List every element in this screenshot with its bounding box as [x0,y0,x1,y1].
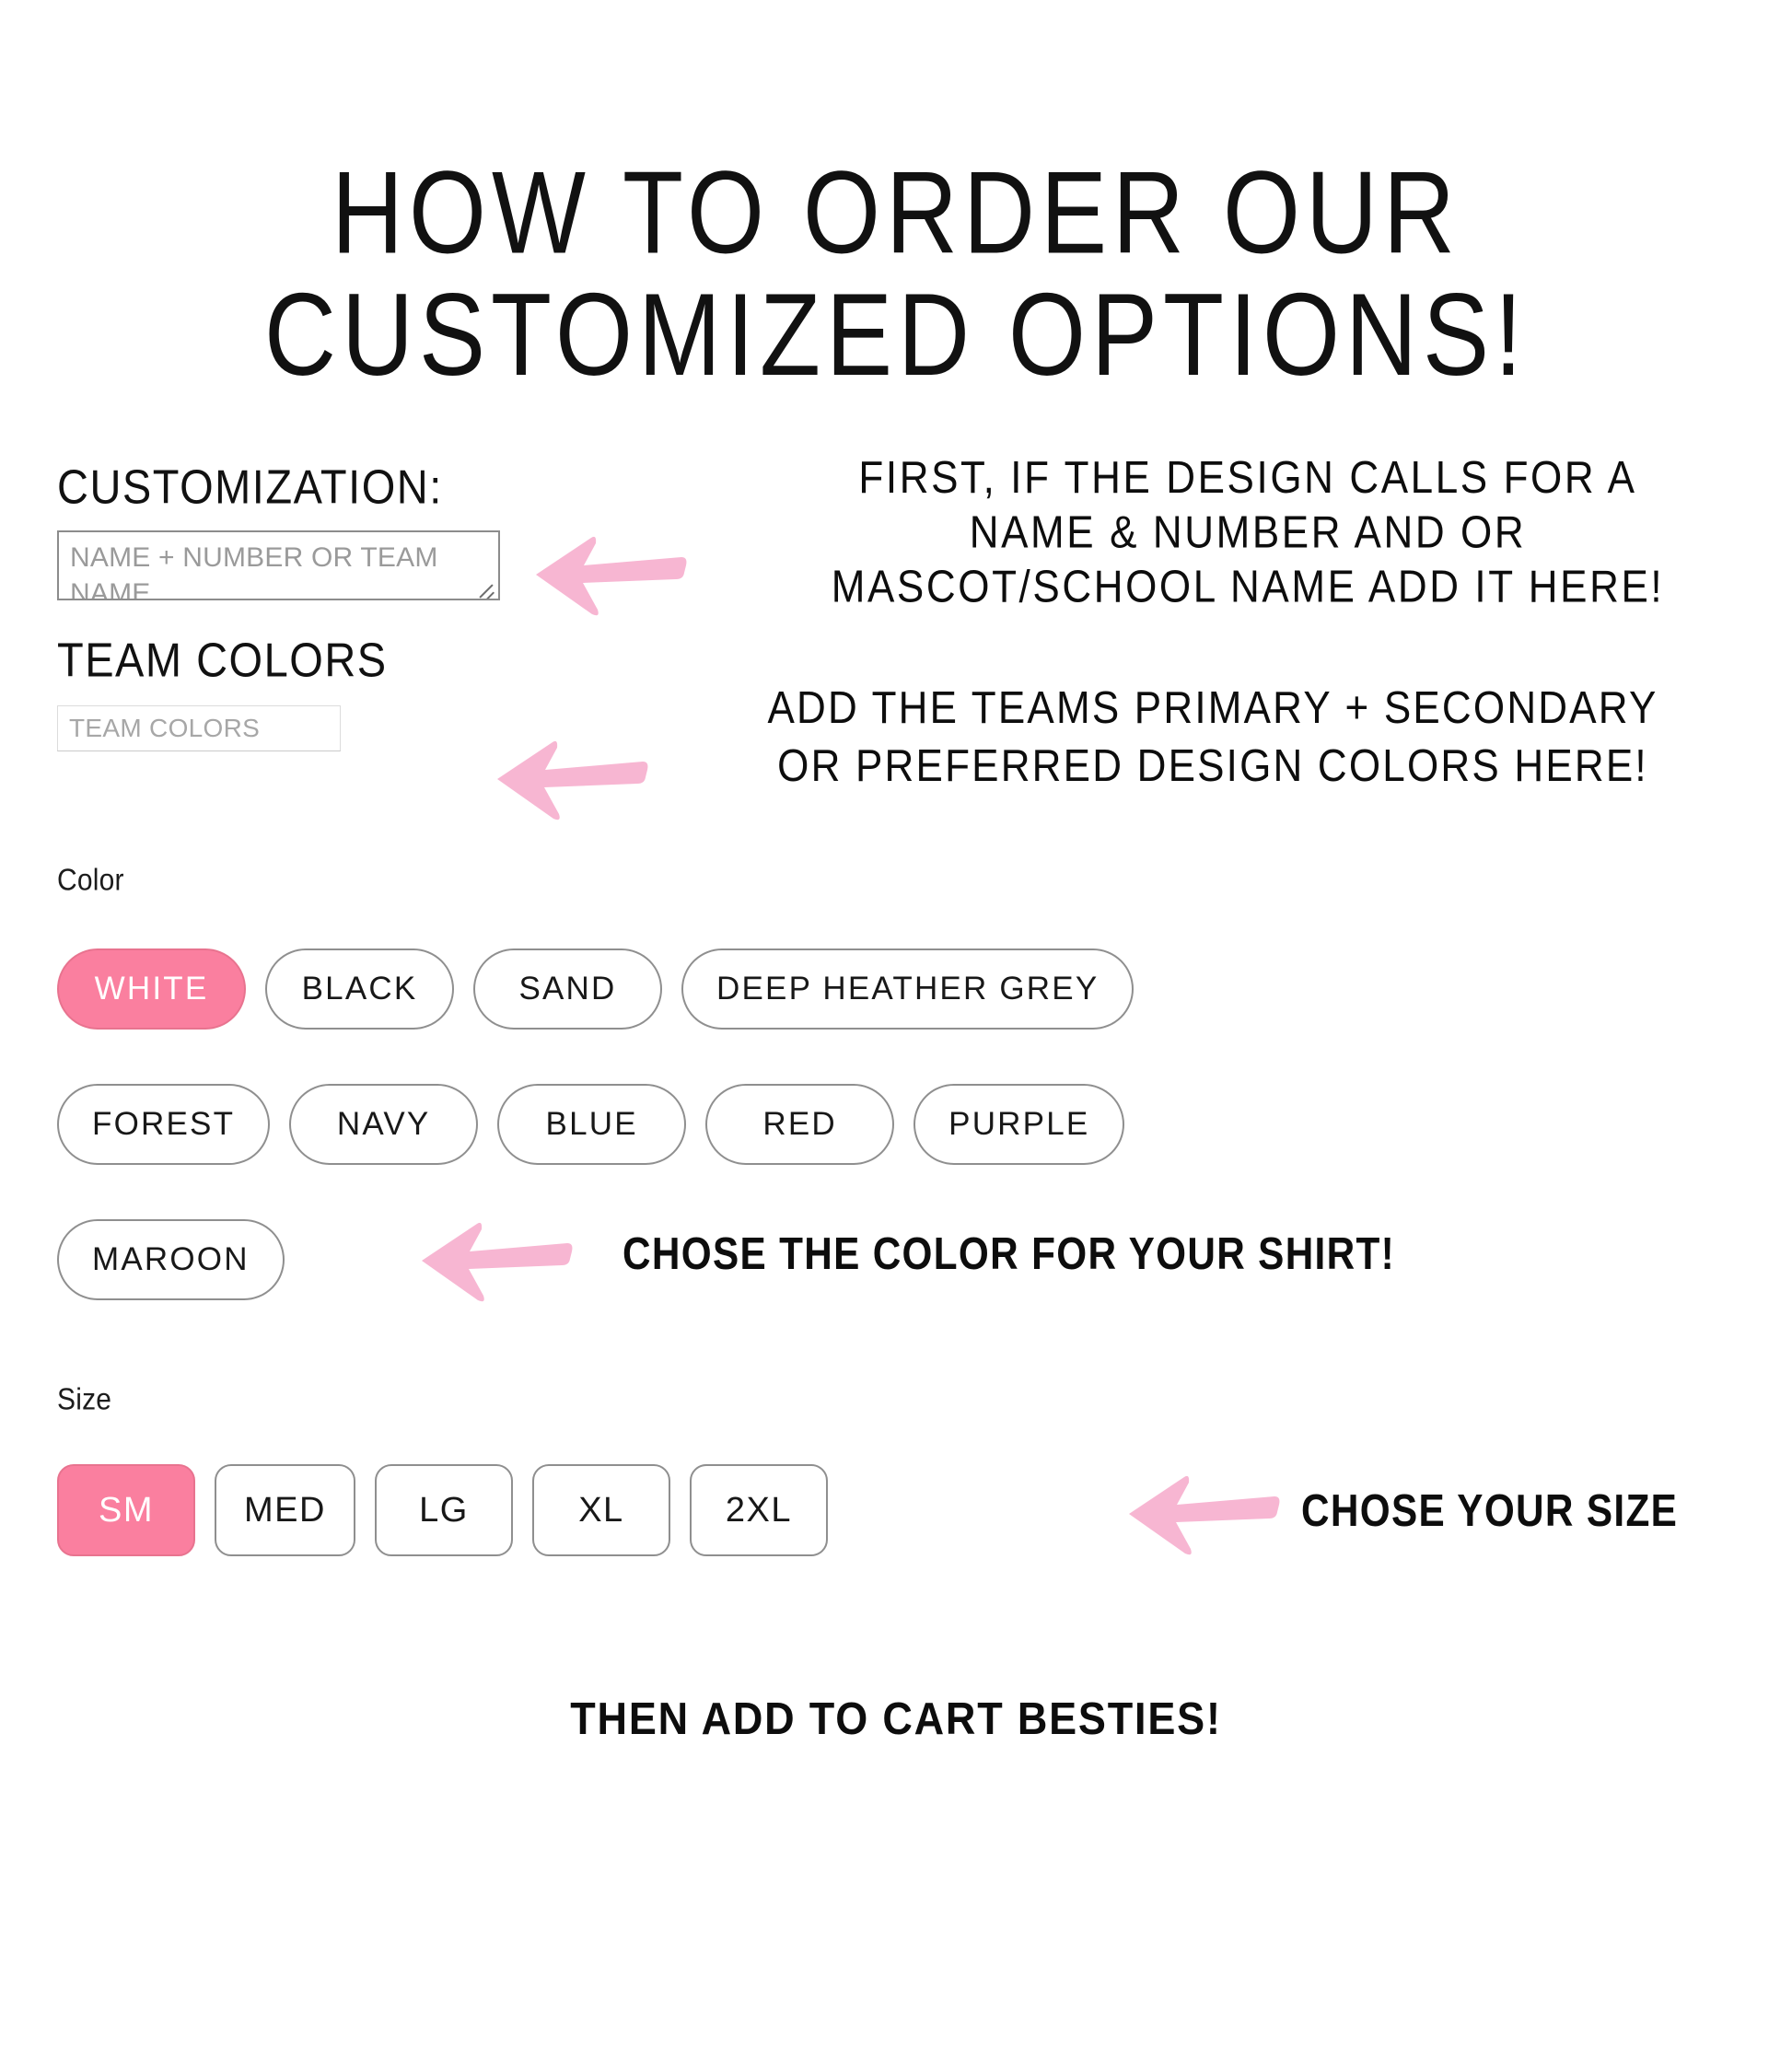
color-option-blue[interactable]: BLUE [497,1084,686,1165]
team-colors-input[interactable]: TEAM COLORS [57,705,341,751]
customization-label: CUSTOMIZATION: [57,459,443,516]
color-option-forest[interactable]: FOREST [57,1084,270,1165]
size-option-2xl[interactable]: 2XL [690,1464,828,1556]
page-title: HOW TO ORDER OUR CUSTOMIZED OPTIONS! [0,152,1792,395]
resize-handle-icon[interactable] [475,576,495,597]
color-group-label: Color [57,864,124,898]
color-options-row-2: FOREST NAVY BLUE RED PURPLE [57,1084,1124,1165]
size-group-label: Size [57,1383,111,1417]
color-option-black[interactable]: BLACK [265,948,454,1030]
size-option-med[interactable]: MED [215,1464,355,1556]
customization-textarea[interactable]: NAME + NUMBER OR TEAM NAME [57,530,500,600]
size-option-xl[interactable]: XL [532,1464,670,1556]
arrow-to-team-colors-icon [488,737,649,824]
color-option-white[interactable]: WHITE [57,948,246,1030]
color-option-deep-heather-grey[interactable]: DEEP HEATHER GREY [681,948,1134,1030]
arrow-to-customization-icon [527,532,688,620]
color-option-red[interactable]: RED [705,1084,894,1165]
color-options-row-3: MAROON [57,1219,285,1300]
annotation-footer-note: THEN ADD TO CART BESTIES! [0,1693,1792,1745]
size-options-row: SM MED LG XL 2XL [57,1464,828,1556]
team-colors-label: TEAM COLORS [57,632,388,689]
color-option-navy[interactable]: NAVY [289,1084,478,1165]
color-option-maroon[interactable]: MAROON [57,1219,285,1300]
annotation-customization-note: FIRST, IF THE DESIGN CALLS FOR A NAME & … [700,450,1792,614]
color-option-purple[interactable]: PURPLE [913,1084,1124,1165]
annotation-team-colors-note: ADD THE TEAMS PRIMARY + SECONDARY OR PRE… [634,680,1792,795]
size-option-sm[interactable]: SM [57,1464,195,1556]
arrow-to-size-icon [1120,1472,1281,1559]
color-option-sand[interactable]: SAND [473,948,662,1030]
annotation-color-note: CHOSE THE COLOR FOR YOUR SHIRT! [623,1228,1395,1280]
annotation-size-note: CHOSE YOUR SIZE [1301,1484,1678,1537]
color-options-row-1: WHITE BLACK SAND DEEP HEATHER GREY [57,948,1134,1030]
arrow-to-color-icon [413,1218,574,1306]
size-option-lg[interactable]: LG [375,1464,513,1556]
